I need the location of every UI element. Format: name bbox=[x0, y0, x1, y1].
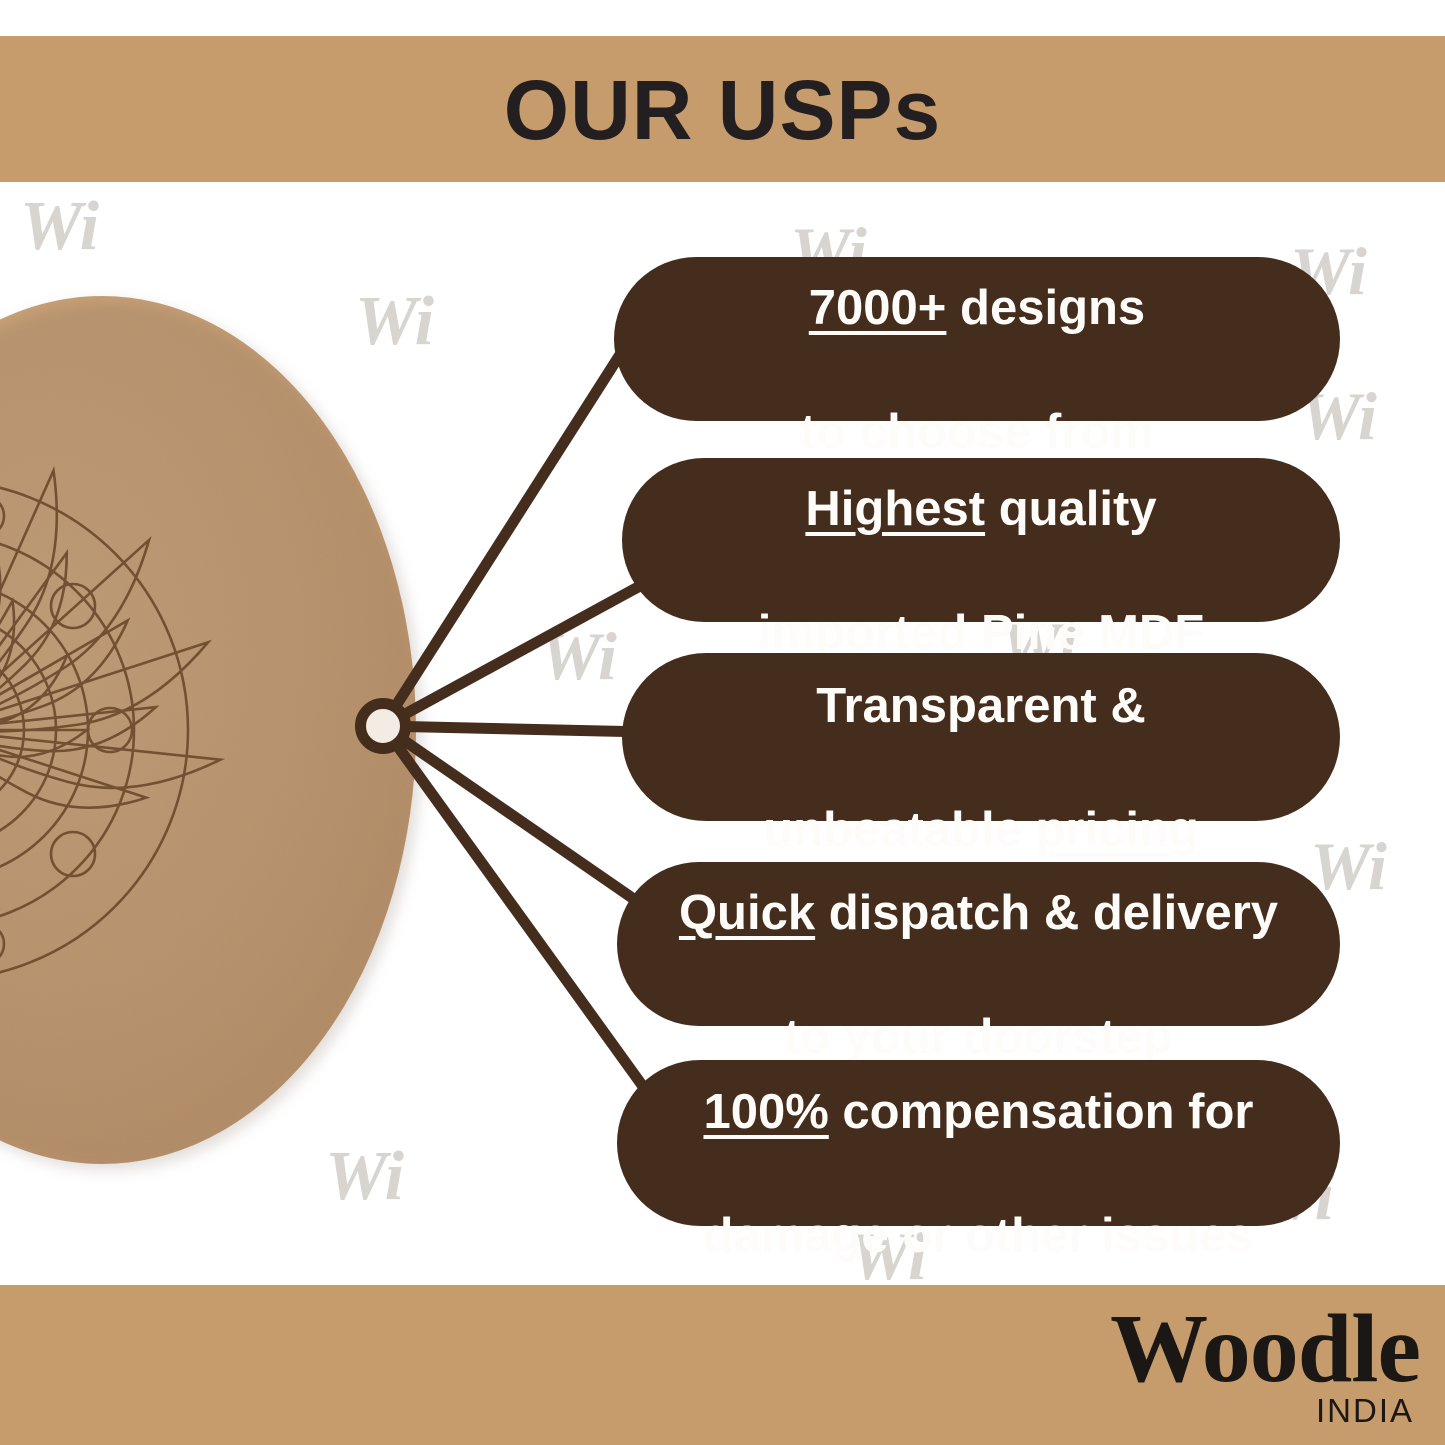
usp-pill-designs[interactable]: 7000+ designs to choose from bbox=[614, 257, 1340, 421]
usp-highlight-dispatch: Quick bbox=[679, 886, 815, 940]
usp-highlight-designs: 7000+ bbox=[809, 281, 947, 335]
usp-rest-compensation: compensation for bbox=[829, 1085, 1254, 1139]
usp-rest-dispatch: dispatch & delivery bbox=[815, 886, 1278, 940]
watermark-wi: Wi bbox=[1310, 832, 1387, 900]
usp-pill-compensation[interactable]: 100% compensation for damage or other is… bbox=[617, 1060, 1340, 1226]
usp-line2-compensation: damage or other issues bbox=[703, 1209, 1253, 1263]
brand-logo: Woodle INDIA bbox=[1020, 1300, 1420, 1432]
hub-node bbox=[355, 698, 411, 754]
usp-highlight-quality: Highest bbox=[805, 482, 985, 536]
usp-rest-designs: designs bbox=[946, 281, 1145, 335]
watermark-wi: Wi bbox=[20, 192, 99, 262]
page-title: OUR USPs bbox=[0, 58, 1445, 162]
usp-pill-quality[interactable]: Highest quality imported Pine MDF bbox=[622, 458, 1340, 622]
usp-highlight-compensation: 100% bbox=[703, 1085, 828, 1139]
watermark-wi: Wi bbox=[540, 622, 617, 690]
usp-rest-quality: quality bbox=[985, 482, 1157, 536]
infographic-canvas: WiWiWiWiWiWiWiWiWiWiWi OUR USPs 7000+ de… bbox=[0, 0, 1445, 1445]
usp-pill-dispatch[interactable]: Quick dispatch & delivery to your doorst… bbox=[617, 862, 1340, 1026]
usp-line1-pricing: Transparent & bbox=[816, 679, 1145, 733]
usp-pill-pricing[interactable]: Transparent & unbeatable pricing bbox=[622, 653, 1340, 821]
brand-wordmark: Woodle bbox=[1020, 1300, 1420, 1398]
usp-pill-compensation-label: 100% compensation for damage or other is… bbox=[703, 1019, 1253, 1267]
